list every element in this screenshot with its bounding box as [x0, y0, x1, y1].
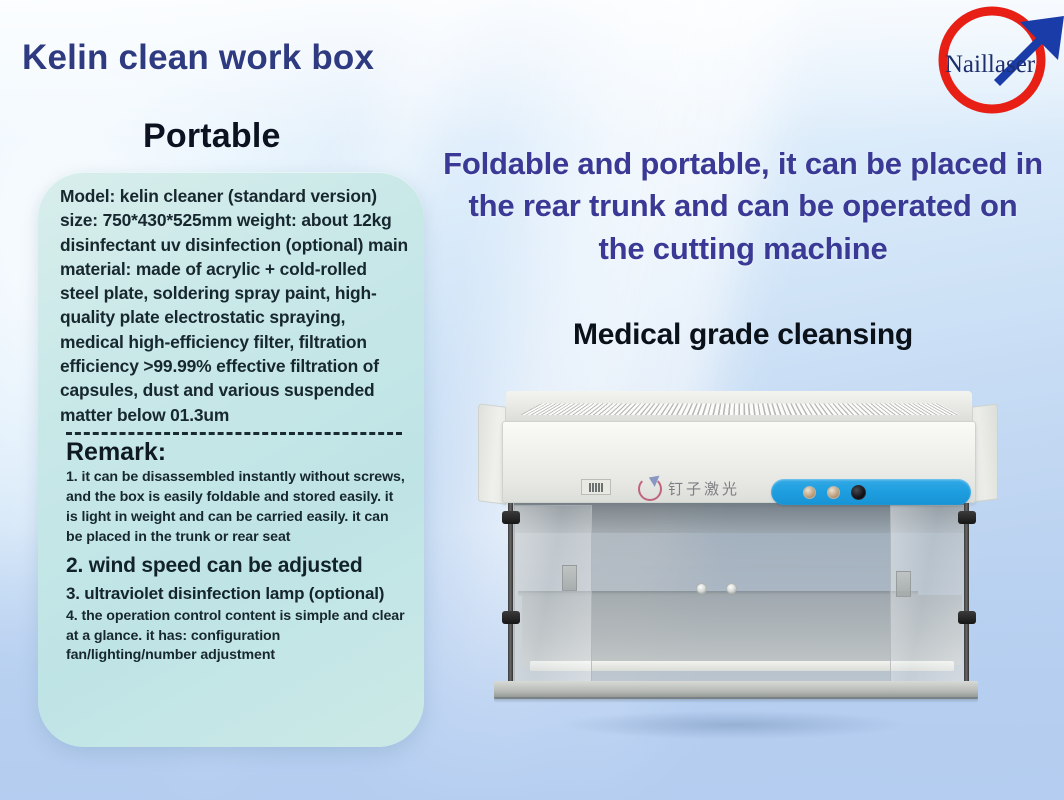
product-knob-3[interactable] [851, 485, 866, 500]
product-rating-label [581, 479, 611, 495]
spec-body-text: Model: kelin cleaner (standard version) … [60, 184, 408, 427]
remark-item-2: 2. wind speed can be adjusted [66, 553, 408, 579]
remark-item-1: 1. it can be disassembled instantly with… [66, 468, 408, 548]
product-hinge-top-right [958, 511, 976, 524]
product-screw-right [726, 583, 737, 594]
remark-heading: Remark: [66, 439, 408, 467]
product-left-frame-post [508, 503, 513, 687]
specification-card: Model: kelin cleaner (standard version) … [38, 172, 424, 747]
product-control-panel [771, 479, 971, 505]
product-hinge-bottom-right [958, 611, 976, 624]
product-photo: 钉子激光 [468, 375, 1008, 755]
product-knob-2[interactable] [827, 486, 840, 499]
card-divider [66, 432, 402, 435]
product-hinge-top-left [502, 511, 520, 524]
product-knob-1[interactable] [803, 486, 816, 499]
logo-text: Naillaser [945, 51, 1036, 78]
product-front-fascia: 钉子激光 [502, 421, 976, 503]
headline: Foldable and portable, it can be placed … [443, 143, 1043, 270]
naillaser-logo: Naillaser [924, 0, 1064, 128]
product-right-vent [896, 571, 911, 597]
product-brand-text: 钉子激光 [668, 478, 740, 499]
product-right-frame-post [964, 503, 969, 687]
product-drop-shadow [494, 705, 974, 745]
product-base-shadow [494, 697, 978, 703]
product-left-acrylic-door [514, 505, 592, 683]
remark-item-3: 3. ultraviolet disinfection lamp (option… [66, 583, 408, 604]
product-hinge-bottom-left [502, 611, 520, 624]
naillaser-logo-icon: Naillaser [924, 0, 1064, 128]
remark-item-4: 4. the operation control content is simp… [66, 607, 408, 667]
product-left-vent [562, 565, 577, 591]
subheadline: Medical grade cleansing [443, 318, 1043, 352]
portable-heading: Portable [143, 117, 281, 156]
product-screw-left [696, 583, 707, 594]
page-title: Kelin clean work box [22, 38, 374, 78]
